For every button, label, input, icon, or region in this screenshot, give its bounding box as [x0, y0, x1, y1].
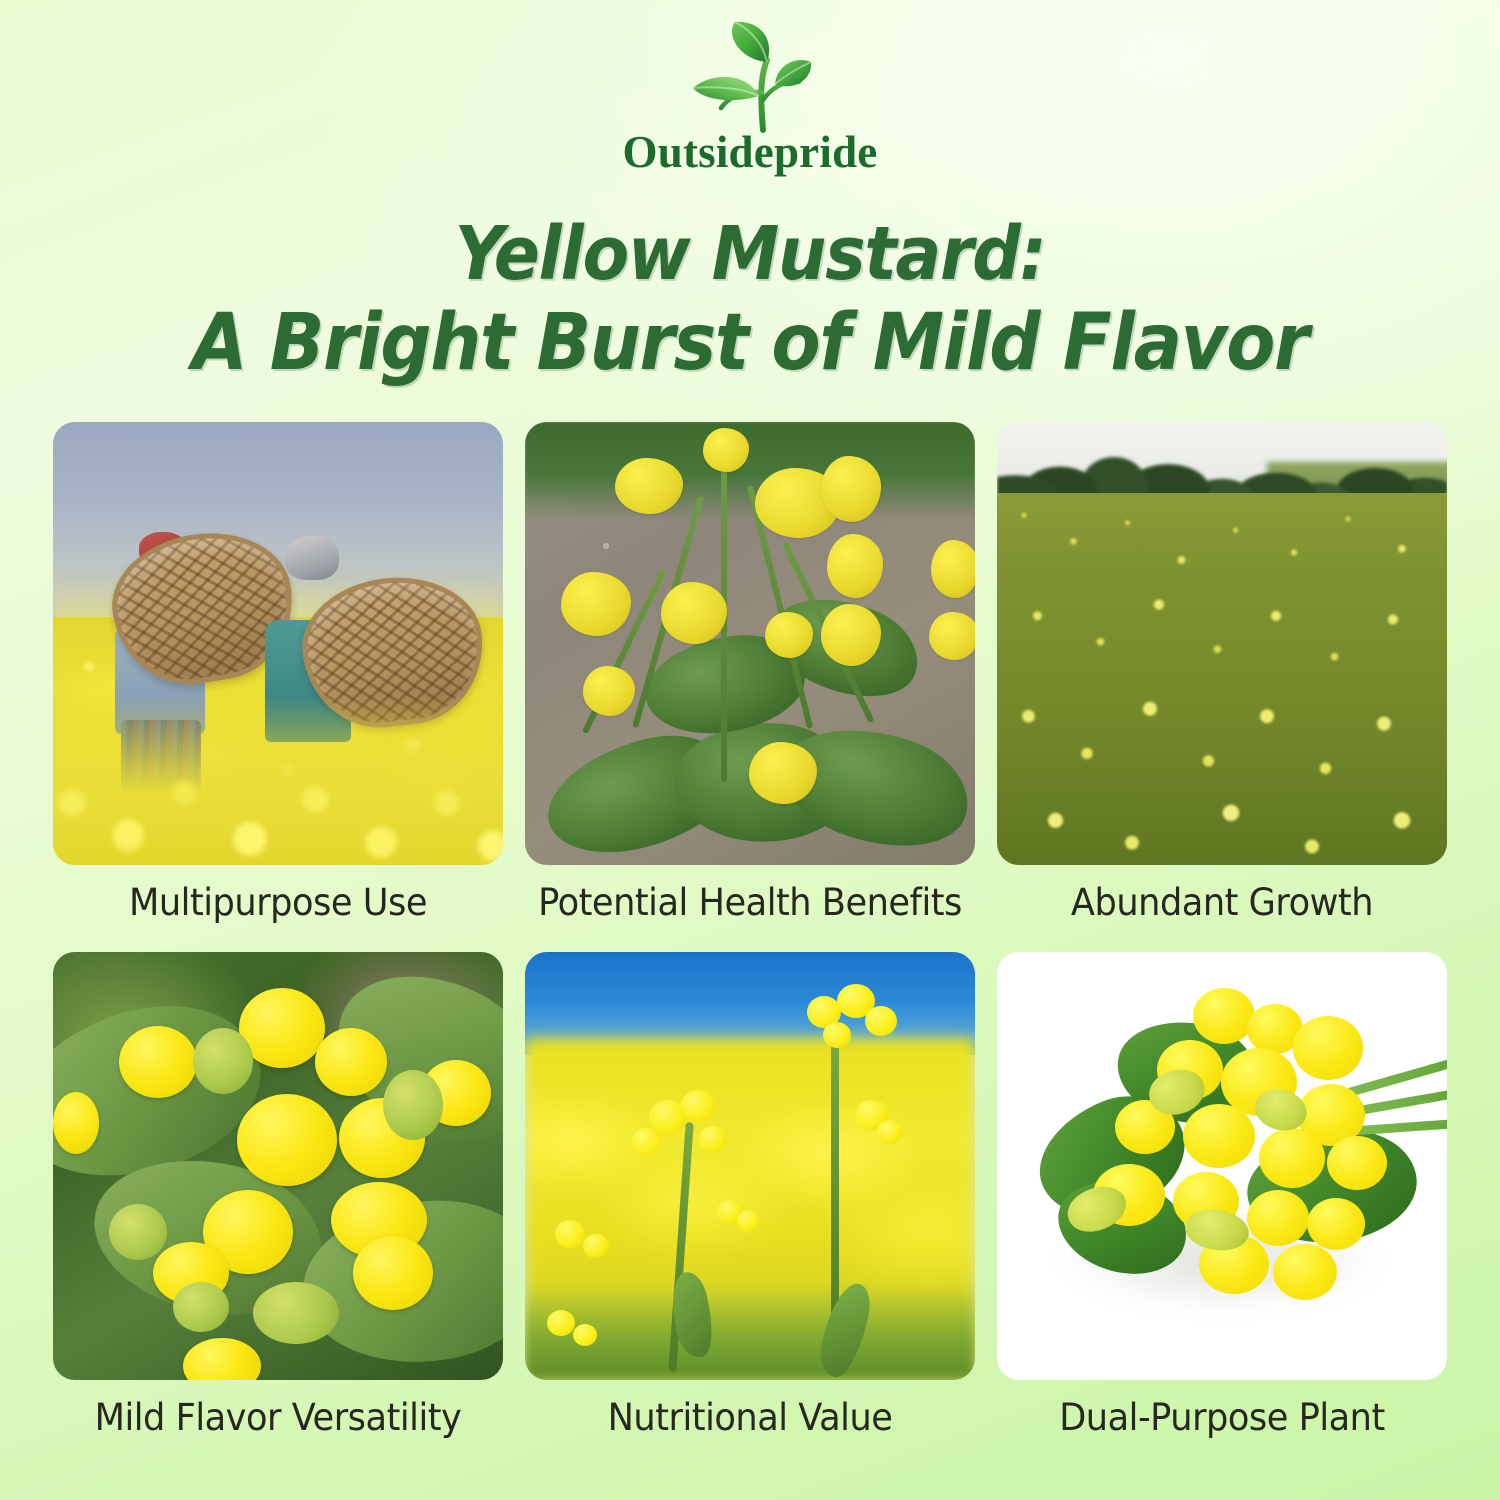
brand-name: Outsidepride	[623, 130, 878, 175]
grid-cell-mild-flavor-versatility: Mild Flavor Versatility	[53, 952, 503, 1439]
background-grass	[525, 422, 975, 519]
poster-root: Outsidepride Yellow Mustard: A Bright Bu…	[0, 0, 1500, 1500]
photo-mustard-blue-sky	[525, 952, 975, 1380]
feature-grid: Multipurpose Use	[53, 422, 1448, 1439]
caption-abundant-growth: Abundant Growth	[1008, 881, 1436, 924]
caption-dual-purpose-plant: Dual-Purpose Plant	[1008, 1396, 1436, 1439]
brand-header: Outsidepride	[0, 18, 1500, 198]
grid-cell-dual-purpose-plant: Dual-Purpose Plant	[997, 952, 1447, 1439]
bloom-texture-layer	[997, 493, 1447, 865]
grid-cell-abundant-growth: Abundant Growth	[997, 422, 1447, 924]
caption-multipurpose-use: Multipurpose Use	[64, 881, 492, 924]
title-line-2: A Bright Burst of Mild Flavor	[60, 298, 1440, 388]
title-line-1: Yellow Mustard:	[60, 212, 1440, 298]
foreground-blooms	[53, 697, 503, 865]
caption-nutritional-value: Nutritional Value	[536, 1396, 964, 1439]
photo-cut-mustard-bouquet	[997, 952, 1447, 1380]
photo-mustard-flower-macro	[53, 952, 503, 1380]
grid-cell-multipurpose-use: Multipurpose Use	[53, 422, 503, 924]
caption-mild-flavor-versatility: Mild Flavor Versatility	[64, 1396, 492, 1439]
photo-single-mustard-plant	[525, 422, 975, 865]
grid-cell-potential-health-benefits: Potential Health Benefits	[525, 422, 975, 924]
photo-mustard-field-horizon	[997, 422, 1447, 865]
page-title: Yellow Mustard: A Bright Burst of Mild F…	[0, 212, 1500, 388]
sprout-leaves-icon	[675, 18, 825, 136]
photo-farmers-mustard-field	[53, 422, 503, 865]
grid-cell-nutritional-value: Nutritional Value	[525, 952, 975, 1439]
caption-potential-health-benefits: Potential Health Benefits	[536, 881, 964, 924]
